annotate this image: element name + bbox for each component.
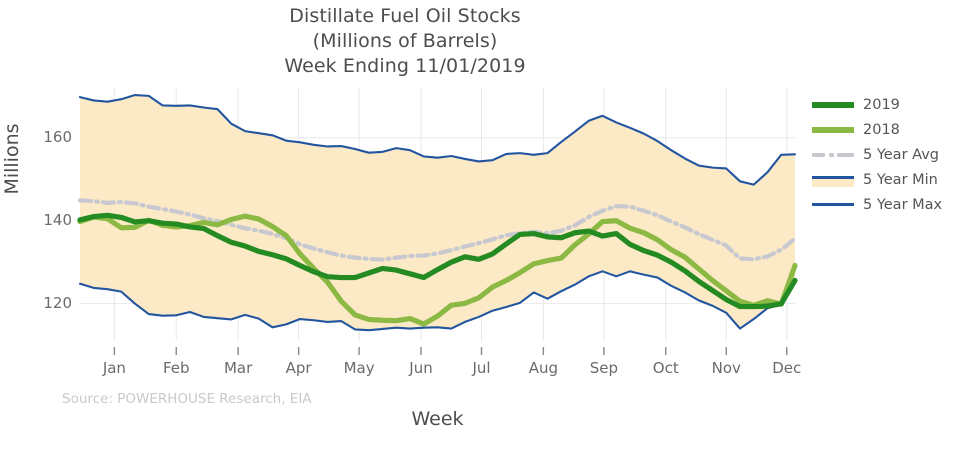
legend-item-5-year-max[interactable]: 5 Year Max [812, 192, 942, 217]
x-axis-tick-label: Jul [452, 359, 512, 377]
legend-swatch-icon [812, 148, 854, 162]
legend-swatch-icon [812, 123, 854, 137]
legend-label: 5 Year Max [863, 197, 942, 213]
x-axis-tick-label: Feb [146, 359, 206, 377]
legend-dash-segment [837, 153, 854, 157]
x-axis-tick-label: Oct [636, 359, 696, 377]
y-axis-tick-label: 120 [2, 294, 72, 312]
x-axis-tick-label: Jun [391, 359, 451, 377]
chart-title-line-2: (Millions of Barrels) [0, 29, 810, 54]
legend-band-line [812, 176, 854, 179]
plot-area [80, 88, 795, 341]
chart-title: Distillate Fuel Oil Stocks (Millions of … [0, 4, 810, 79]
legend-line [812, 127, 854, 133]
legend-label: 5 Year Min [863, 172, 938, 188]
x-axis-tick-label: Aug [513, 359, 573, 377]
legend-dash-segment [829, 153, 834, 157]
legend-item-5-year-avg[interactable]: 5 Year Avg [812, 142, 942, 167]
y-axis-tick-label: 140 [2, 211, 72, 229]
legend-dash-segment [812, 153, 825, 157]
x-axis-tick-label: Sep [574, 359, 634, 377]
x-axis-tick-label: Apr [269, 359, 329, 377]
legend-band-fill [812, 179, 854, 187]
legend-swatch-icon [812, 173, 854, 187]
chart-title-line-1: Distillate Fuel Oil Stocks [0, 4, 810, 29]
plot-svg [80, 88, 795, 341]
legend-item-2019[interactable]: 2019 [812, 92, 942, 117]
chart-legend: 201920185 Year Avg5 Year Min5 Year Max [812, 92, 942, 217]
chart-root: Distillate Fuel Oil Stocks (Millions of … [0, 0, 974, 454]
legend-label: 2018 [863, 122, 900, 138]
x-axis-tick-label: Mar [208, 359, 268, 377]
x-axis-tick-label: Jan [84, 359, 144, 377]
y-axis-tick-label: 160 [2, 128, 72, 146]
x-axis-tick-label: Nov [696, 359, 756, 377]
legend-swatch-icon [812, 198, 854, 212]
x-axis-title: Week [80, 408, 795, 430]
chart-title-line-3: Week Ending 11/01/2019 [0, 54, 810, 79]
x-axis-tick-label: Dec [757, 359, 817, 377]
legend-item-2018[interactable]: 2018 [812, 117, 942, 142]
source-note: Source: POWERHOUSE Research, EIA [62, 391, 312, 407]
legend-label: 5 Year Avg [863, 147, 939, 163]
legend-item-5-year-min[interactable]: 5 Year Min [812, 167, 942, 192]
legend-line [812, 102, 854, 108]
x-axis-tick-label: May [329, 359, 389, 377]
legend-label: 2019 [863, 97, 900, 113]
legend-swatch-icon [812, 98, 854, 112]
legend-line [812, 203, 854, 206]
